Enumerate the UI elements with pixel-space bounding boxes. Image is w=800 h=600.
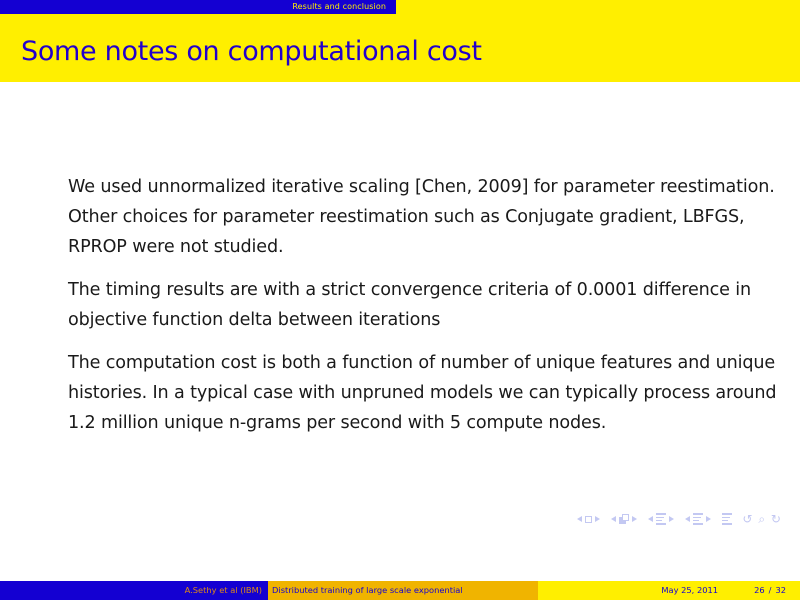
frame-icon[interactable] [619,514,629,524]
body-paragraph-1: We used unnormalized iterative scaling [… [68,172,784,262]
section-nav-bar[interactable]: Results and conclusion [0,0,396,14]
slide-prev-icon[interactable] [577,516,582,522]
footer-title-cell: Distributed training of large scale expo… [268,581,538,600]
content-block: We used unnormalized iterative scaling [… [68,172,784,438]
section-icon[interactable] [693,513,703,524]
slide-body: We used unnormalized iterative scaling [… [0,82,800,548]
title-band: Some notes on computational cost [0,14,800,82]
subsection-icon[interactable] [656,513,666,524]
section-label: Results and conclusion [292,3,386,11]
footer-short-title: Distributed training of large scale expo… [272,586,463,594]
subsection-next-icon[interactable] [669,516,674,522]
footer-date-cell: May 25, 2011 26 / 32 [538,581,800,600]
slide-icon[interactable] [585,516,592,523]
frame-nav-group[interactable] [611,514,637,524]
headline-bar: Results and conclusion [0,0,800,14]
beamer-navigation-symbols[interactable]: ↺ ⌕ ↻ [577,513,782,525]
section-next-icon[interactable] [706,516,711,522]
footer-author-cell: A.Sethy et al (IBM) [0,581,268,600]
section-nav-group[interactable] [685,513,711,524]
page-separator: / [769,586,772,594]
page-title: Some notes on computational cost [21,38,482,65]
frame-next-icon[interactable] [632,516,637,522]
frame-prev-icon[interactable] [611,516,616,522]
back-search-forward-icons[interactable]: ↺ ⌕ ↻ [743,513,782,525]
footer-author: A.Sethy et al (IBM) [185,586,262,594]
presentation-icon[interactable] [722,513,732,524]
footline: A.Sethy et al (IBM) Distributed training… [0,581,800,600]
page-current: 26 [754,586,765,594]
footer-page-number: 26 / 32 [754,586,786,594]
subsection-prev-icon[interactable] [648,516,653,522]
subsection-nav-group[interactable] [648,513,674,524]
body-paragraph-2: The timing results are with a strict con… [68,275,784,335]
slide-next-icon[interactable] [595,516,600,522]
footer-date: May 25, 2011 [661,586,718,594]
slide-nav-group[interactable] [577,516,600,523]
page-total: 32 [775,586,786,594]
section-prev-icon[interactable] [685,516,690,522]
body-paragraph-3: The computation cost is both a function … [68,348,784,438]
